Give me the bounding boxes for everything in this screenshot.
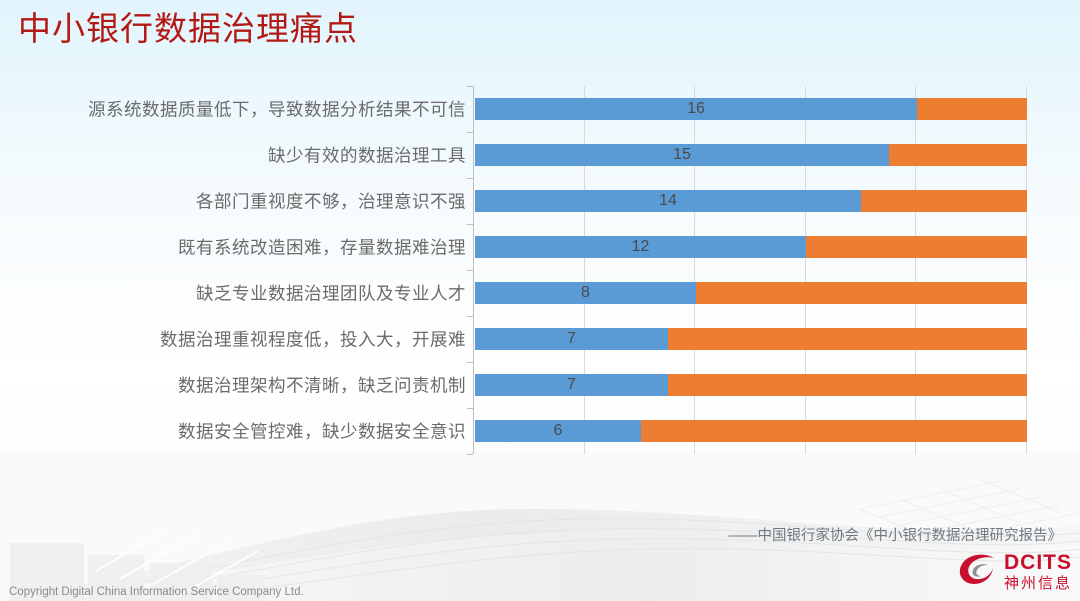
- chart-rows: 源系统数据质量低下，导致数据分析结果不可信16缺少有效的数据治理工具15各部门重…: [0, 86, 1040, 454]
- bar-segment-primary[interactable]: 7: [475, 374, 668, 396]
- category-label: 既有系统改造困难，存量数据难治理: [4, 235, 466, 260]
- stacked-bar[interactable]: 15: [475, 144, 1027, 166]
- chart-row: 数据治理重视程度低，投入大，开展难7: [0, 316, 1040, 362]
- bar-segment-primary[interactable]: 15: [475, 144, 889, 166]
- page-title: 中小银行数据治理痛点: [18, 7, 358, 51]
- category-label: 数据安全管控难，缺少数据安全意识: [4, 419, 466, 444]
- slide-canvas: 中小银行数据治理痛点 源系统数据质量低下，导致数据分析结果不可信16缺少有效的数…: [0, 0, 1080, 601]
- stacked-bar[interactable]: 14: [475, 190, 1027, 212]
- category-label: 数据治理架构不清晰，缺乏问责机制: [4, 373, 466, 398]
- bar-segment-secondary[interactable]: [668, 328, 1027, 350]
- bar-segment-primary[interactable]: 12: [475, 236, 806, 258]
- bar-segment-primary[interactable]: 7: [475, 328, 668, 350]
- chart-row: 既有系统改造困难，存量数据难治理12: [0, 224, 1040, 270]
- bar-segment-primary[interactable]: 6: [475, 420, 641, 442]
- stacked-bar[interactable]: 12: [475, 236, 1027, 258]
- axis-tick: [467, 132, 473, 133]
- chart-row: 各部门重视度不够，治理意识不强14: [0, 178, 1040, 224]
- axis-tick: [467, 178, 473, 179]
- dcits-logo: DCITS 神州信息: [958, 549, 1072, 593]
- bar-segment-secondary[interactable]: [889, 144, 1027, 166]
- bar-value-label: 15: [475, 147, 889, 163]
- bar-value-label: 7: [475, 331, 668, 347]
- axis-tick: [467, 362, 473, 363]
- bar-value-label: 14: [475, 193, 861, 209]
- bar-value-label: 6: [475, 423, 641, 439]
- dcits-swoosh-icon: [958, 553, 998, 589]
- axis-tick: [467, 224, 473, 225]
- stacked-bar[interactable]: 16: [475, 98, 1027, 120]
- category-label: 缺少有效的数据治理工具: [4, 143, 466, 168]
- axis-tick: [467, 316, 473, 317]
- axis-tick: [467, 86, 473, 87]
- chart-row: 数据安全管控难，缺少数据安全意识6: [0, 408, 1040, 454]
- axis-tick: [467, 270, 473, 271]
- chart-row: 数据治理架构不清晰，缺乏问责机制7: [0, 362, 1040, 408]
- category-label: 缺乏专业数据治理团队及专业人才: [4, 281, 466, 306]
- source-citation: ——中国银行家协会《中小银行数据治理研究报告》: [729, 524, 1063, 545]
- bar-segment-secondary[interactable]: [641, 420, 1027, 442]
- bar-segment-primary[interactable]: 16: [475, 98, 917, 120]
- stacked-bar[interactable]: 6: [475, 420, 1027, 442]
- bar-segment-secondary[interactable]: [806, 236, 1027, 258]
- stacked-bar[interactable]: 7: [475, 328, 1027, 350]
- chart-row: 缺乏专业数据治理团队及专业人才8: [0, 270, 1040, 316]
- stacked-bar[interactable]: 7: [475, 374, 1027, 396]
- copyright-text: Copyright Digital China Information Serv…: [9, 586, 304, 598]
- bar-segment-primary[interactable]: 8: [475, 282, 696, 304]
- stacked-bar[interactable]: 8: [475, 282, 1027, 304]
- bar-segment-secondary[interactable]: [917, 98, 1027, 120]
- logo-cn-text: 神州信息: [1004, 576, 1072, 591]
- bar-value-label: 12: [475, 239, 806, 255]
- bar-segment-secondary[interactable]: [861, 190, 1027, 212]
- category-label: 数据治理重视程度低，投入大，开展难: [4, 327, 466, 352]
- bar-segment-primary[interactable]: 14: [475, 190, 861, 212]
- axis-tick: [467, 408, 473, 409]
- chart-row: 源系统数据质量低下，导致数据分析结果不可信16: [0, 86, 1040, 132]
- bar-segment-secondary[interactable]: [696, 282, 1027, 304]
- logo-en-text: DCITS: [1004, 552, 1072, 573]
- category-label: 源系统数据质量低下，导致数据分析结果不可信: [4, 97, 466, 122]
- bar-value-label: 8: [475, 285, 696, 301]
- axis-tick: [467, 454, 473, 455]
- stacked-bar-chart: 源系统数据质量低下，导致数据分析结果不可信16缺少有效的数据治理工具15各部门重…: [0, 86, 1040, 462]
- bar-segment-secondary[interactable]: [668, 374, 1027, 396]
- bar-value-label: 7: [475, 377, 668, 393]
- category-label: 各部门重视度不够，治理意识不强: [4, 189, 466, 214]
- bar-value-label: 16: [475, 101, 917, 117]
- chart-row: 缺少有效的数据治理工具15: [0, 132, 1040, 178]
